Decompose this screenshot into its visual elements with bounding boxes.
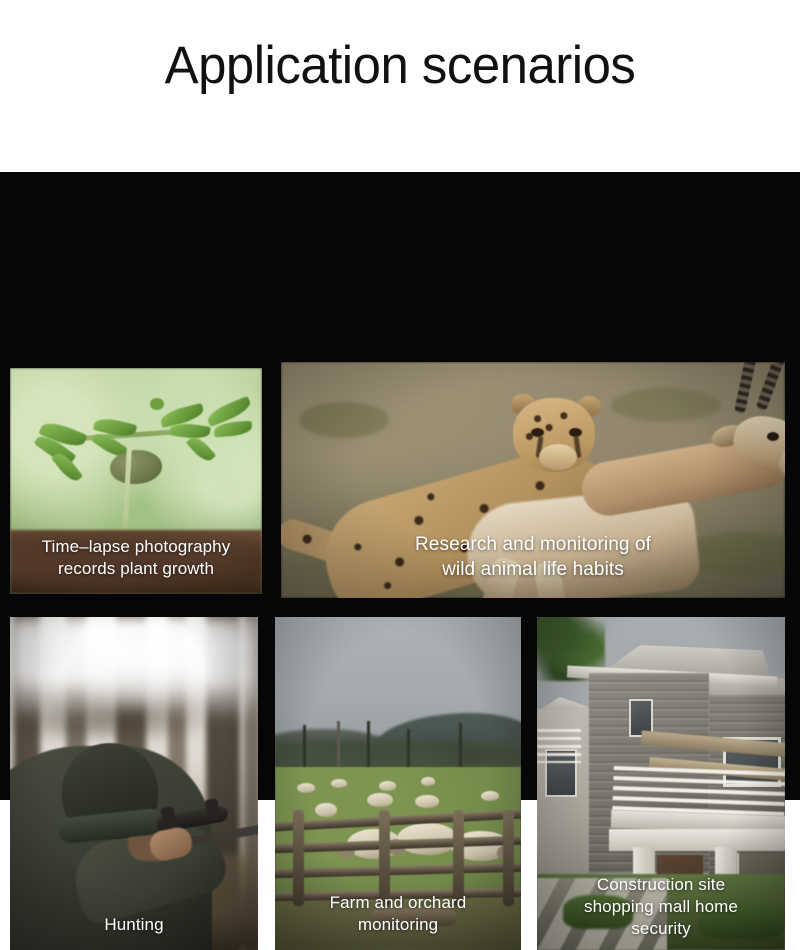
- caption-line-1: Construction site: [537, 874, 785, 896]
- caption-line-2: wild animal life habits: [281, 557, 785, 582]
- caption-line-2: shopping mall home: [537, 896, 785, 918]
- scenario-panel-hunting[interactable]: Hunting: [10, 617, 258, 950]
- scenario-panel-time-lapse-plant-growth[interactable]: Time–lapse photography records plant gro…: [10, 368, 262, 594]
- caption-line-1: Hunting: [10, 914, 258, 936]
- caption-line-1: Farm and orchard: [275, 892, 521, 914]
- caption-line-1: Research and monitoring of: [281, 532, 785, 557]
- caption-line-3: security: [537, 918, 785, 940]
- caption-line-2: records plant growth: [10, 558, 262, 580]
- scenario-panel-farm-orchard-monitoring[interactable]: Farm and orchard monitoring: [275, 617, 521, 950]
- caption-line-2: monitoring: [275, 914, 521, 936]
- scenario-panel-wild-animal-research[interactable]: Research and monitoring of wild animal l…: [281, 362, 785, 598]
- scenario-caption: Construction site shopping mall home sec…: [537, 874, 785, 940]
- title-area: Application scenarios: [0, 0, 800, 172]
- scenario-grid: Time–lapse photography records plant gro…: [0, 172, 800, 800]
- page-title: Application scenarios: [16, 36, 784, 96]
- photo-hunter: [10, 617, 258, 950]
- scenario-caption: Hunting: [10, 914, 258, 936]
- application-scenarios-page: Application scenarios Time–lapse photogr…: [0, 0, 800, 800]
- scenario-caption: Time–lapse photography records plant gro…: [10, 536, 262, 580]
- scenario-caption: Farm and orchard monitoring: [275, 892, 521, 936]
- caption-line-1: Time–lapse photography: [10, 536, 262, 558]
- scenario-caption: Research and monitoring of wild animal l…: [281, 532, 785, 582]
- scenario-panel-construction-mall-home-security[interactable]: Construction site shopping mall home sec…: [537, 617, 785, 950]
